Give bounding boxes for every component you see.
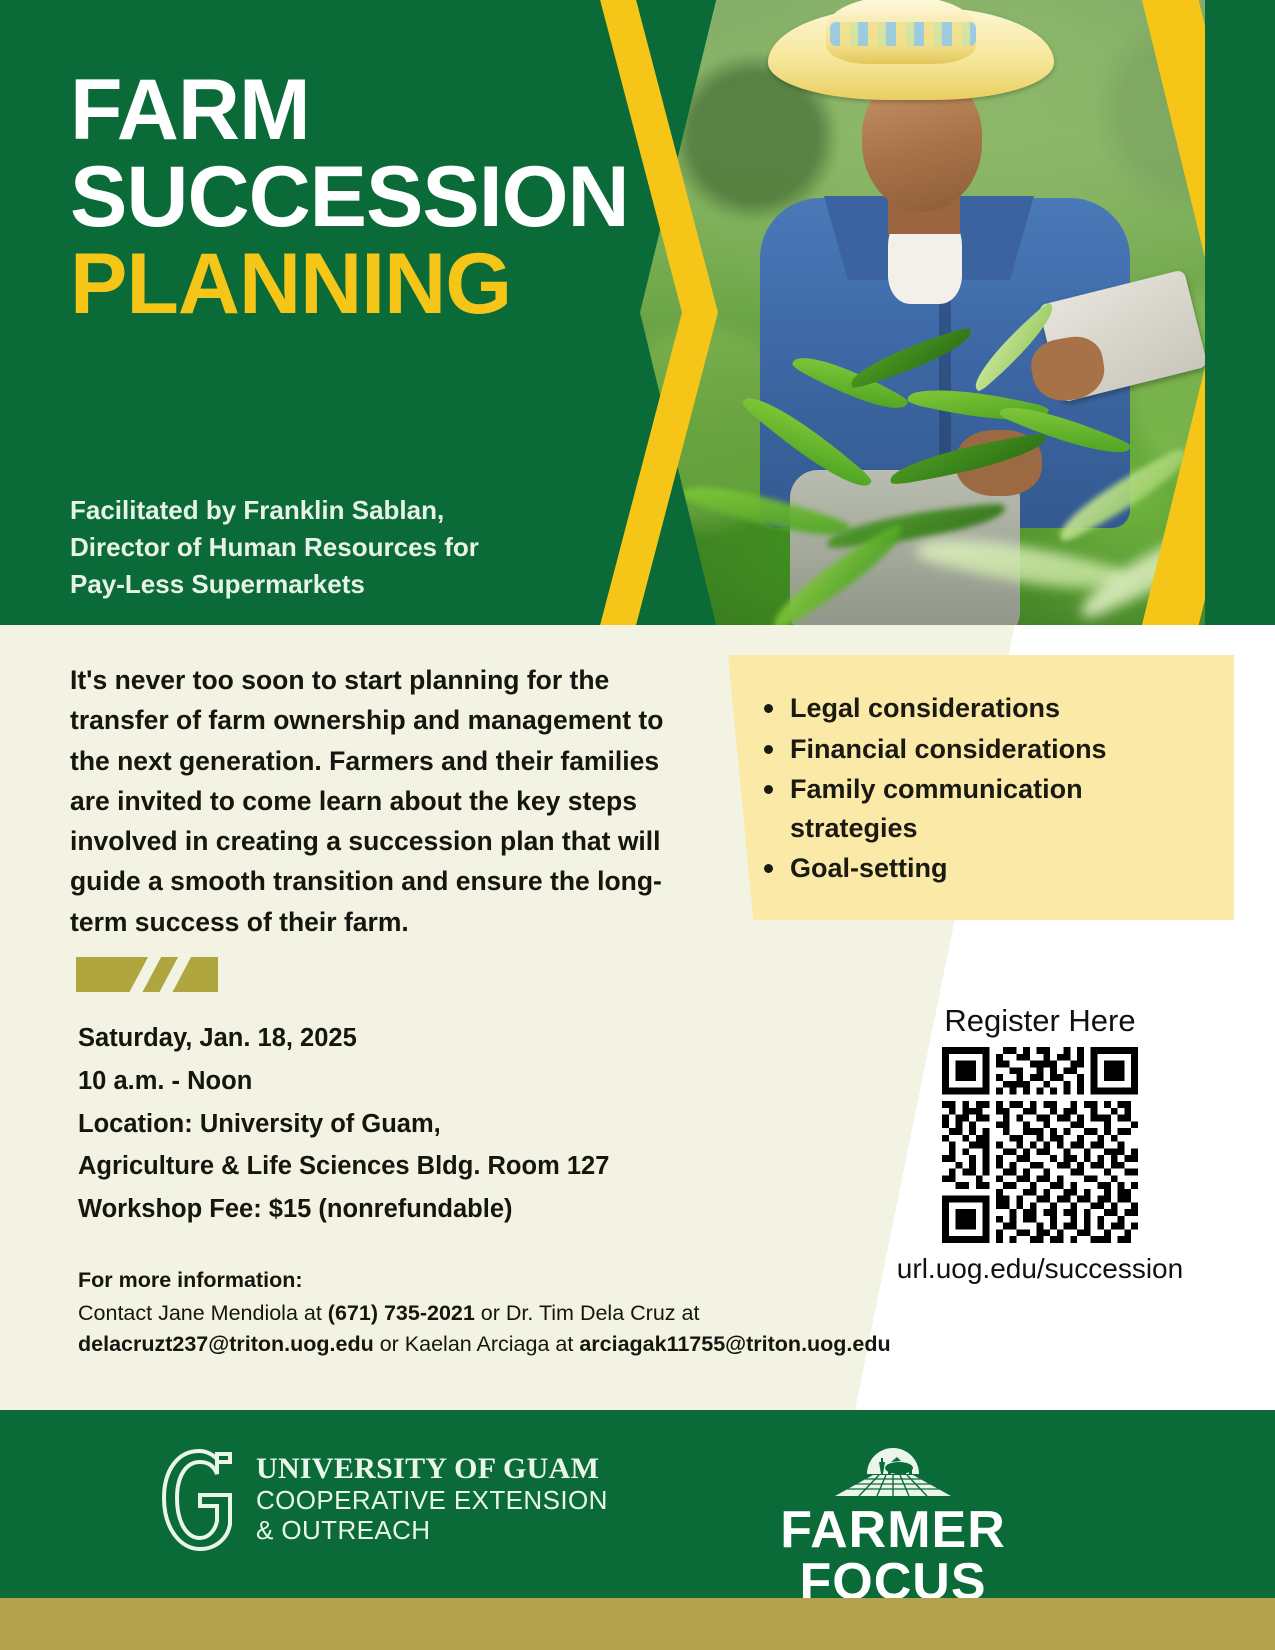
- facilitator-line-3: Pay-Less Supermarkets: [70, 566, 630, 603]
- title-line-1: FARM: [70, 68, 690, 153]
- contact-email-1[interactable]: delacruzt237@triton.uog.edu: [78, 1332, 374, 1356]
- qr-code[interactable]: [942, 1047, 1138, 1243]
- farmer-focus-logo: FARMER FOCUS: [718, 1444, 1068, 1608]
- poster: FARM SUCCESSION PLANNING Facilitated by …: [0, 0, 1275, 1650]
- topics-panel: Legal considerations Financial considera…: [728, 655, 1234, 920]
- contact-line-2: delacruzt237@triton.uog.edu or Kaelan Ar…: [78, 1329, 1028, 1360]
- hat-band: [830, 22, 976, 46]
- uog-logo-text: UNIVERSITY OF GUAM COOPERATIVE EXTENSION…: [256, 1448, 608, 1545]
- topics-list: Legal considerations Financial considera…: [746, 689, 1214, 888]
- contact-email-2[interactable]: arciagak11755@triton.uog.edu: [579, 1332, 890, 1356]
- hero-section: FARM SUCCESSION PLANNING Facilitated by …: [0, 0, 1275, 625]
- list-item: Legal considerations: [790, 689, 1214, 728]
- contact-phone: (671) 735-2021: [328, 1301, 475, 1325]
- uog-line-2: COOPERATIVE EXTENSION: [256, 1486, 608, 1516]
- list-item: Family communication strategies: [790, 770, 1214, 847]
- uog-line-3: & OUTREACH: [256, 1516, 608, 1546]
- decorative-stripe-mark: [76, 957, 218, 992]
- farm-field-sun-icon: [833, 1444, 953, 1502]
- register-url[interactable]: url.uog.edu/succession: [880, 1253, 1200, 1285]
- event-fee: Workshop Fee: $15 (nonrefundable): [78, 1188, 758, 1231]
- intro-paragraph: It's never too soon to start planning fo…: [70, 660, 690, 942]
- list-item: Goal-setting: [790, 849, 1214, 888]
- event-time: 10 a.m. - Noon: [78, 1060, 758, 1103]
- uog-logo: UNIVERSITY OF GUAM COOPERATIVE EXTENSION…: [160, 1448, 608, 1552]
- facilitator-line-2: Director of Human Resources for: [70, 529, 630, 566]
- event-date: Saturday, Jan. 18, 2025: [78, 1017, 758, 1060]
- hand-left: [956, 430, 1042, 496]
- event-location-line-1: Location: University of Guam,: [78, 1103, 758, 1146]
- contact-l2-mid: or Kaelan Arciaga at: [374, 1332, 580, 1356]
- register-title: Register Here: [880, 1003, 1200, 1039]
- poster-title: FARM SUCCESSION PLANNING: [70, 68, 690, 329]
- title-line-3: PLANNING: [70, 242, 690, 327]
- event-details: Saturday, Jan. 18, 2025 10 a.m. - Noon L…: [78, 1017, 758, 1231]
- footer-section: UNIVERSITY OF GUAM COOPERATIVE EXTENSION…: [0, 1410, 1275, 1598]
- title-line-2: SUCCESSION: [70, 155, 690, 240]
- uog-g-mark-icon: [160, 1448, 238, 1552]
- event-location-line-2: Agriculture & Life Sciences Bldg. Room 1…: [78, 1145, 758, 1188]
- bottom-gold-bar: [0, 1598, 1275, 1650]
- register-block: Register Here: [880, 1003, 1200, 1285]
- contact-l1-a: Contact Jane Mendiola at: [78, 1301, 328, 1325]
- body-section: It's never too soon to start planning fo…: [0, 625, 1275, 1410]
- facilitator-line-1: Facilitated by Franklin Sablan,: [70, 492, 630, 529]
- list-item: Financial considerations: [790, 730, 1214, 769]
- contact-line-1: Contact Jane Mendiola at (671) 735-2021 …: [78, 1298, 1028, 1329]
- facilitator-credit: Facilitated by Franklin Sablan, Director…: [70, 492, 630, 603]
- contact-l1-b: or Dr. Tim Dela Cruz at: [475, 1301, 700, 1325]
- hero-right-green-edge: [1205, 0, 1275, 625]
- uog-line-1: UNIVERSITY OF GUAM: [256, 1452, 608, 1486]
- farmer-focus-wordmark: FARMER FOCUS: [718, 1504, 1068, 1608]
